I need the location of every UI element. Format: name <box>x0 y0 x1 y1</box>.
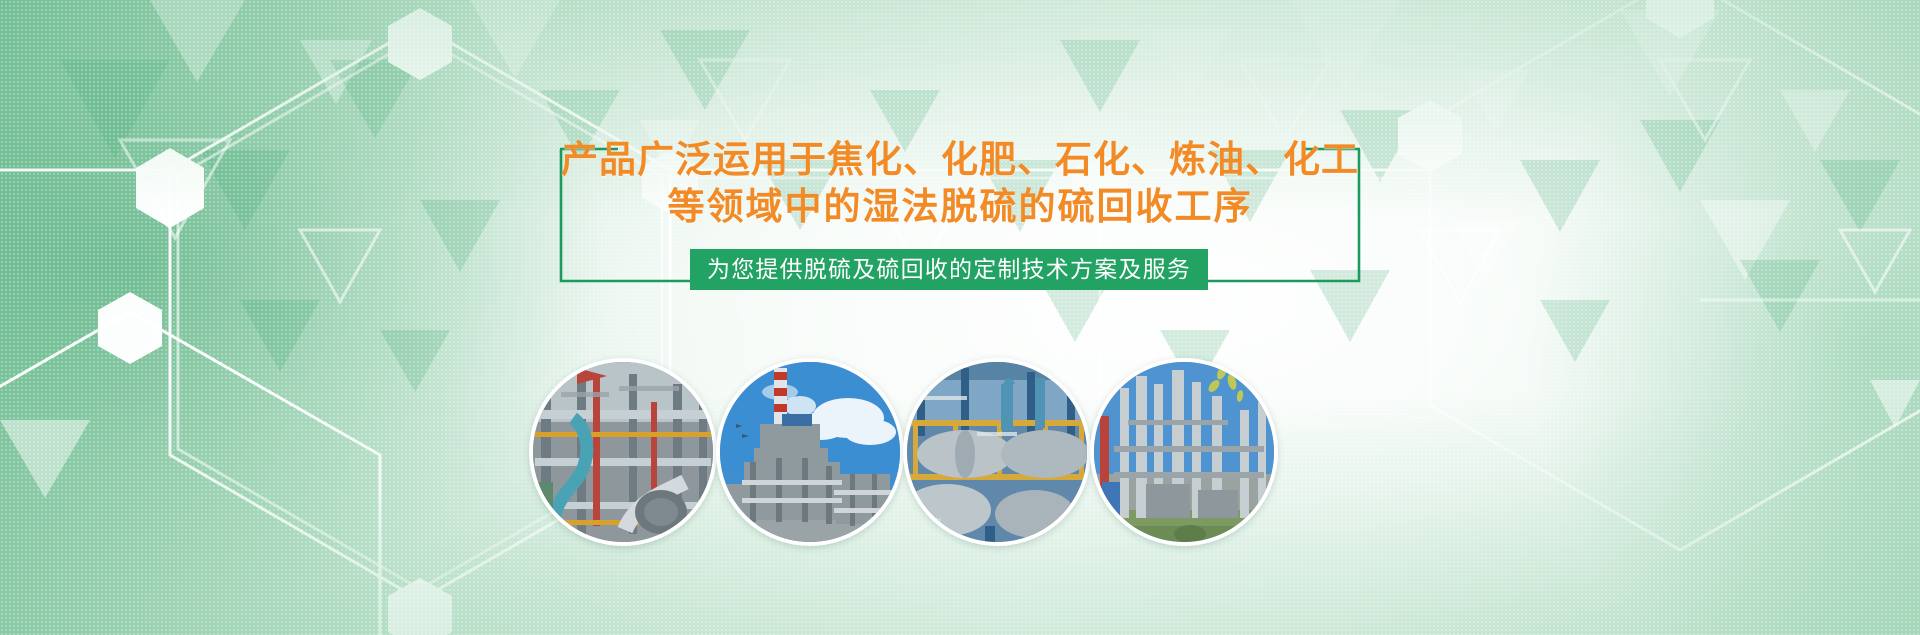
headline-line-2: 等领域中的湿法脱硫的硫回收工序 <box>560 183 1360 230</box>
photo-refinery-piping-image <box>533 362 713 542</box>
hero-banner: 产品广泛运用于焦化、化肥、石化、炼油、化工 等领域中的湿法脱硫的硫回收工序 为您… <box>0 0 1920 635</box>
photo-row <box>0 358 1920 558</box>
headline: 产品广泛运用于焦化、化肥、石化、炼油、化工 等领域中的湿法脱硫的硫回收工序 <box>560 136 1360 230</box>
photo-plant-stack-image <box>720 362 900 542</box>
photo-pressure-vessels-image <box>907 362 1087 542</box>
photo-distillation-towers <box>1090 358 1278 546</box>
photo-pressure-vessels <box>903 358 1091 546</box>
photo-refinery-piping <box>529 358 717 546</box>
photo-distillation-towers-image <box>1094 362 1274 542</box>
headline-line-1: 产品广泛运用于焦化、化肥、石化、炼油、化工 <box>560 136 1360 183</box>
photo-plant-stack <box>716 358 904 546</box>
subtitle-banner: 为您提供脱硫及硫回收的定制技术方案及服务 <box>690 249 1208 290</box>
